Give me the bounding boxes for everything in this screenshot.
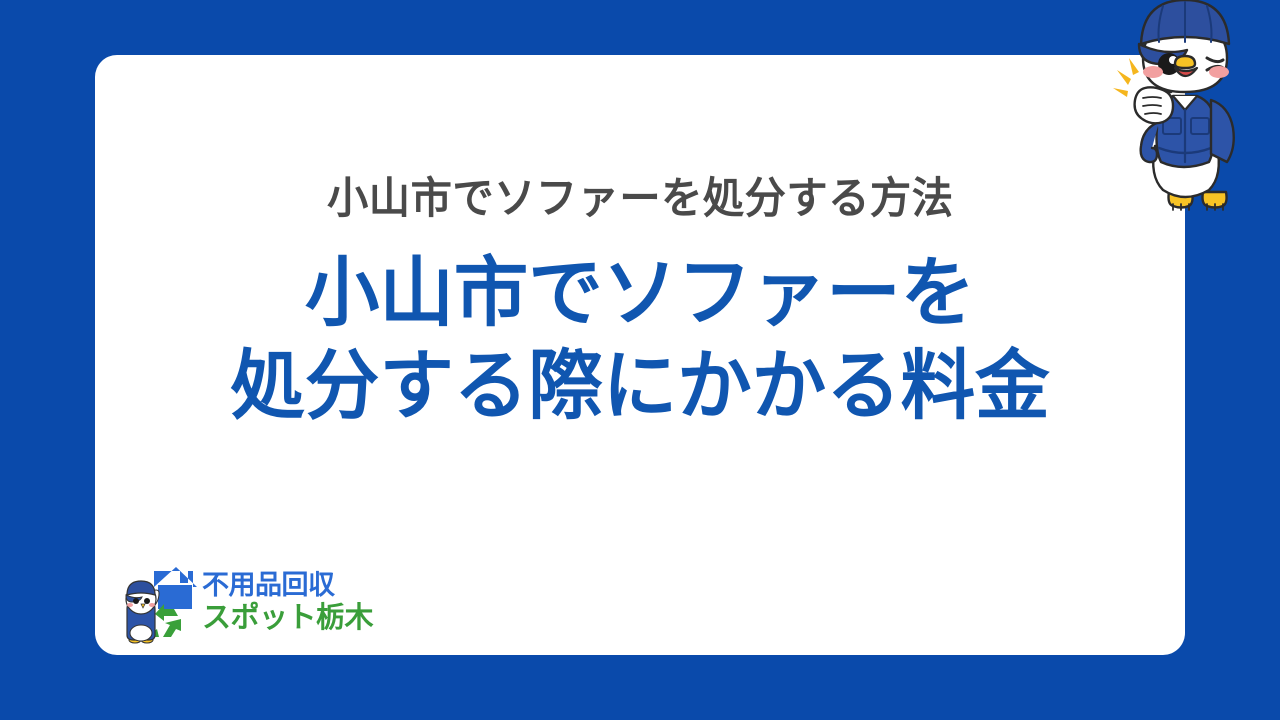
logo-text-line-1: 不用品回収: [202, 572, 373, 599]
house-recycle-bird-logo-icon: [118, 557, 200, 647]
sparkle-icon: [1113, 58, 1139, 97]
logo-wordmarks: 不用品回収 スポット栃木: [202, 572, 373, 633]
brand-logo[interactable]: 不用品回収 スポット栃木: [118, 556, 368, 648]
thumbnail-canvas: 小山市でソファーを処分する方法 小山市でソファーを 処分する際にかかる料金: [0, 0, 1280, 720]
logo-text-line-2: スポット栃木: [202, 604, 373, 633]
bird-worker-thumbs-up-mascot-icon: [1085, 0, 1280, 236]
